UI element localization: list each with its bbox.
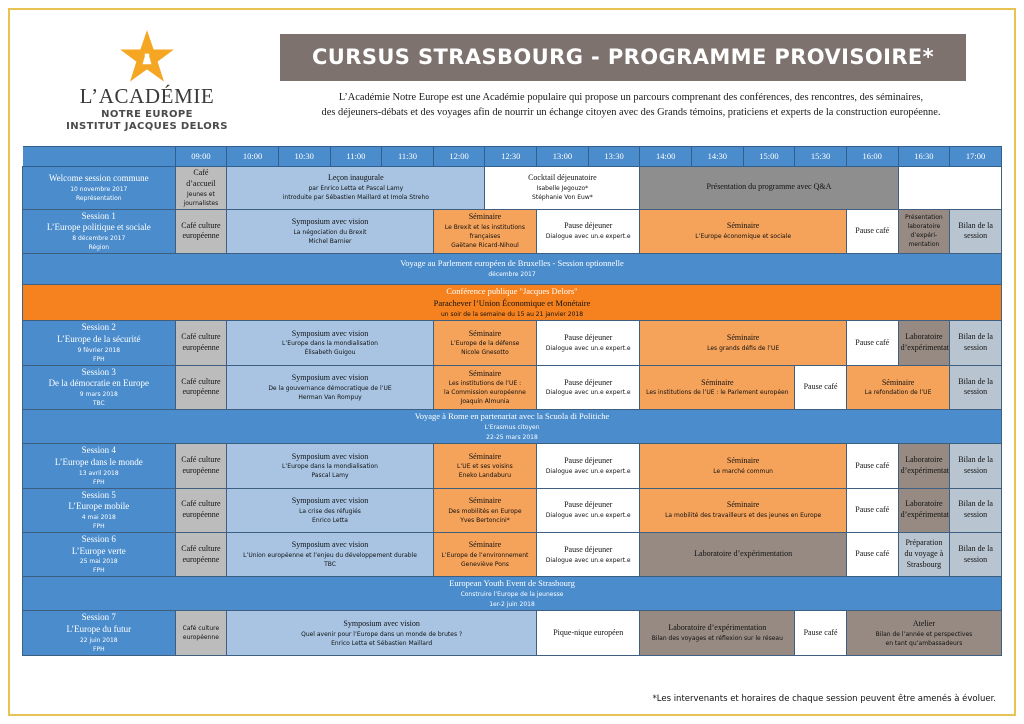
cell-line: 1er-2 juin 2018 bbox=[25, 600, 999, 610]
cell-line: Voyage au Parlement européen de Bruxelle… bbox=[25, 258, 999, 270]
time-header-1500: 15:00 bbox=[743, 147, 795, 167]
session-header-cell[interactable]: Session 6L’Europe verte25 mai 2018FPH bbox=[23, 532, 176, 576]
cell-line: Des mobilités en Europe bbox=[436, 507, 534, 516]
page-content: L’ACADÉMIE NOTRE EUROPE INSTITUT JACQUES… bbox=[22, 22, 1002, 702]
schedule-cell[interactable]: Symposium avec visionDe la gouvernance d… bbox=[227, 365, 434, 409]
session-header-l4: TBC bbox=[25, 399, 173, 408]
cell-line: Séminaire bbox=[436, 540, 534, 551]
cell-line: Symposium avec vision bbox=[229, 540, 431, 551]
footnote: *Les intervenants et horaires de chaque … bbox=[22, 694, 1002, 704]
cell-line: Symposium avec vision bbox=[229, 619, 534, 630]
session-header-cell[interactable]: Welcome session commune10 novembre 2017R… bbox=[23, 167, 176, 210]
cell-line: Le marché commun bbox=[642, 467, 844, 476]
session-header-l1: Session 1 bbox=[25, 211, 173, 223]
session-row: Session 6L’Europe verte25 mai 2018FPHCaf… bbox=[23, 532, 1002, 576]
cell-line: L’Europe dans la mondialisation bbox=[229, 339, 431, 348]
cell-line: Séminaire bbox=[642, 333, 844, 344]
time-header-1330: 13:30 bbox=[588, 147, 640, 167]
cell-line: décembre 2017 bbox=[25, 270, 999, 280]
cell-line: Pause déjeuner bbox=[539, 221, 637, 232]
session-header-cell[interactable]: Session 7L’Europe du futur22 juin 2018FP… bbox=[23, 611, 176, 655]
session-header-cell[interactable]: Session 5L’Europe mobile4 mai 2018FPH bbox=[23, 488, 176, 532]
cell-line: Gaëtane Ricard-Nihoul bbox=[436, 241, 534, 250]
schedule-cell[interactable]: SéminaireLe marché commun bbox=[640, 444, 847, 488]
cell-line: Laboratoire d’expérimentation bbox=[642, 623, 792, 634]
session-header-l4: FPH bbox=[25, 645, 173, 654]
session-header-l3: 4 mai 2018 bbox=[25, 513, 173, 522]
session-header-l4: FPH bbox=[25, 522, 173, 531]
cell-line: Café culture bbox=[178, 221, 225, 232]
schedule-cell[interactable]: Pause café bbox=[846, 488, 898, 532]
schedule-cell[interactable]: Café cultureeuropéenne bbox=[175, 611, 227, 655]
session-header-l2: L’Europe mobile bbox=[25, 501, 173, 513]
schedule-cell[interactable]: Symposium avec visionLa crise des réfugi… bbox=[227, 488, 434, 532]
cell-line: d’expérimentation bbox=[901, 466, 948, 477]
cell-line: TBC bbox=[229, 560, 431, 569]
schedule-cell[interactable]: Laboratoired’expérimentation bbox=[898, 444, 950, 488]
session-row: Session 4L’Europe dans le monde13 avril … bbox=[23, 444, 1002, 488]
schedule-cell[interactable]: Cocktail déjeunatoireIsabelle Jegouzo*St… bbox=[485, 167, 640, 210]
schedule-cell[interactable]: Pause déjeunerDialogue avec un.e expert.… bbox=[537, 321, 640, 365]
time-header-0900: 09:00 bbox=[175, 147, 227, 167]
schedule-cell[interactable]: Préparation du voyage àStrasbourg bbox=[898, 532, 950, 576]
session-header-l2: L’Europe verte bbox=[25, 546, 173, 558]
time-header-1430: 14:30 bbox=[692, 147, 744, 167]
brand-name: L’ACADÉMIE bbox=[22, 85, 272, 107]
cell-line: Séminaire bbox=[436, 496, 534, 507]
schedule-cell[interactable]: Présentation du programme avec Q&A bbox=[640, 167, 898, 210]
brand-subtitle-1: NOTRE EUROPE bbox=[22, 109, 272, 120]
cell-line: Dialogue avec un.e expert.e bbox=[539, 467, 637, 476]
cell-line: Bilan des voyages et réflexion sur le ré… bbox=[642, 634, 792, 643]
cell-line: Cocktail déjeunatoire bbox=[487, 173, 637, 184]
cell-line: Enrico Letta bbox=[229, 516, 431, 525]
cell-line: session bbox=[952, 343, 999, 354]
cell-line: Laboratoire bbox=[901, 455, 948, 466]
cell-line: d’expérimentation bbox=[901, 510, 948, 521]
cell-line: un soir de la semaine du 15 au 21 janvie… bbox=[25, 310, 999, 320]
cell-line: L’UE et ses voisins bbox=[436, 462, 534, 471]
cell-line: Joaquín Almunia bbox=[436, 397, 534, 406]
schedule-cell[interactable]: Symposium avec visionQuel avenir pour l’… bbox=[227, 611, 537, 655]
cell-line: Pause café bbox=[849, 461, 896, 472]
time-header-1630: 16:30 bbox=[898, 147, 950, 167]
brand-subtitle-2: INSTITUT JACQUES DELORS bbox=[22, 121, 272, 132]
schedule-cell[interactable]: Pause déjeunerDialogue avec un.e expert.… bbox=[537, 209, 640, 253]
cell-line: introduite par Sébastien Maillard et Imo… bbox=[229, 193, 482, 202]
cell-line: De la gouvernance démocratique de l’UE bbox=[229, 384, 431, 393]
schedule-cell[interactable]: Café cultureeuropéenne bbox=[175, 365, 227, 409]
cell-line: Isabelle Jegouzo* bbox=[487, 184, 637, 193]
cell-line: européenne bbox=[178, 555, 225, 566]
cell-line: L’Europe de la défense bbox=[436, 339, 534, 348]
logo-block: L’ACADÉMIE NOTRE EUROPE INSTITUT JACQUES… bbox=[22, 26, 272, 132]
table-corner-cell bbox=[23, 147, 176, 167]
cell-line: Bilan de la bbox=[952, 221, 999, 232]
cell-line: European Youth Event de Strasbourg bbox=[25, 578, 999, 590]
schedule-cell[interactable]: SéminaireLes institutions de l’UE :la Co… bbox=[433, 365, 536, 409]
time-header-1400: 14:00 bbox=[640, 147, 692, 167]
cell-line: laboratoire bbox=[901, 222, 948, 231]
time-header-1100: 11:00 bbox=[330, 147, 382, 167]
cell-line: Pause café bbox=[797, 382, 844, 393]
cell-line: Séminaire bbox=[849, 378, 947, 389]
session-header-l1: Session 7 bbox=[25, 612, 173, 624]
schedule-cell[interactable]: SéminaireLa refondation de l’UE bbox=[846, 365, 949, 409]
session-header-l1: Session 2 bbox=[25, 322, 173, 334]
schedule-cell[interactable]: Pause déjeunerDialogue avec un.e expert.… bbox=[537, 444, 640, 488]
cell-line: Café culture bbox=[178, 455, 225, 466]
cell-line: Préparation du voyage à bbox=[901, 538, 948, 560]
schedule-cell[interactable]: Pause café bbox=[846, 444, 898, 488]
cell-line: Les institutions de l’UE : bbox=[436, 379, 534, 388]
cell-line: session bbox=[952, 510, 999, 521]
cell-line: européenne bbox=[178, 343, 225, 354]
session-header-l3: 8 décembre 2017 bbox=[25, 234, 173, 243]
time-header-1000: 10:00 bbox=[227, 147, 279, 167]
schedule-cell[interactable]: Symposium avec visionLa négociation du B… bbox=[227, 209, 434, 253]
cell-line: d’expérimentation bbox=[901, 343, 948, 354]
schedule-cell[interactable]: AtelierBilan de l’année et perspectivese… bbox=[846, 611, 1001, 655]
page-title: CURSUS STRASBOURG - PROGRAMME PROVISOIRE… bbox=[280, 34, 966, 81]
session-header-l4: FPH bbox=[25, 566, 173, 575]
cell-line: L’Europe économique et sociale bbox=[642, 232, 844, 241]
voyage-band-cell[interactable]: Voyage au Parlement européen de Bruxelle… bbox=[23, 254, 1002, 285]
schedule-cell[interactable]: SéminaireLa mobilité des travailleurs et… bbox=[640, 488, 847, 532]
conference-band-cell[interactable]: Conférence publique "Jacques Delors"Para… bbox=[23, 285, 1002, 321]
voyage-band-cell[interactable]: Voyage à Rome en partenariat avec la Scu… bbox=[23, 410, 1002, 444]
cell-line: Pause café bbox=[797, 628, 844, 639]
cell-line: Séminaire bbox=[642, 500, 844, 511]
schedule-cell[interactable]: Pique-nique européen bbox=[537, 611, 640, 655]
time-header-1030: 10:30 bbox=[278, 147, 330, 167]
cell-line: L’Erasmus citoyen bbox=[25, 423, 999, 433]
schedule-cell[interactable]: Laboratoire d’expérimentationBilan des v… bbox=[640, 611, 795, 655]
cell-line: Quel avenir pour l’Europe dans un monde … bbox=[229, 630, 534, 639]
cell-line: L’Europe de l’environnement bbox=[436, 551, 534, 560]
session-header-l4: FPH bbox=[25, 355, 173, 364]
cell-line: Présentation bbox=[901, 213, 948, 222]
cell-line: Le Brexit et les institutions bbox=[436, 223, 534, 232]
cell-line: session bbox=[952, 466, 999, 477]
document-header: L’ACADÉMIE NOTRE EUROPE INSTITUT JACQUES… bbox=[22, 22, 1002, 138]
cell-line: Pascal Lamy bbox=[229, 471, 431, 480]
time-header-1130: 11:30 bbox=[382, 147, 434, 167]
cell-line: La négociation du Brexit bbox=[229, 228, 431, 237]
cell-line: Yves Bertoncini* bbox=[436, 516, 534, 525]
session-row: Session 5L’Europe mobile4 mai 2018FPHCaf… bbox=[23, 488, 1002, 532]
cell-line: Café bbox=[178, 168, 225, 179]
cell-line: Pause déjeuner bbox=[539, 333, 637, 344]
cell-line: Café culture bbox=[178, 499, 225, 510]
cell-line: Bilan de l’année et perspectives bbox=[849, 630, 999, 639]
cell-line: Les grands défis de l’UE bbox=[642, 344, 844, 353]
cell-line: Jeunes et bbox=[178, 190, 225, 199]
cell-line: en tant qu’ambassadeurs bbox=[849, 639, 999, 648]
cell-line: Conférence publique "Jacques Delors" bbox=[25, 286, 999, 298]
voyage-band-row: European Youth Event de StrasbourgConstr… bbox=[23, 577, 1002, 611]
session-header-l2: L’Europe du futur bbox=[25, 624, 173, 636]
cell-line: Dialogue avec un.e expert.e bbox=[539, 232, 637, 241]
time-header-1700: 17:00 bbox=[950, 147, 1002, 167]
cell-line: Voyage à Rome en partenariat avec la Scu… bbox=[25, 411, 999, 423]
cell-line: mentation bbox=[901, 240, 948, 249]
cell-line: Pause déjeuner bbox=[539, 378, 637, 389]
schedule-cell[interactable]: SéminaireLe Brexit et les institutionsfr… bbox=[433, 209, 536, 253]
cell-line: Séminaire bbox=[642, 221, 844, 232]
time-header-1230: 12:30 bbox=[485, 147, 537, 167]
session-header-l3: 10 novembre 2017 bbox=[25, 185, 173, 194]
intro-line-2: des déjeuners-débats et des voyages afin… bbox=[280, 105, 982, 120]
schedule-cell[interactable]: Pause café bbox=[846, 209, 898, 253]
session-header-l3: 9 mars 2018 bbox=[25, 390, 173, 399]
schedule-cell[interactable]: Bilan de lasession bbox=[950, 365, 1002, 409]
cell-line: Symposium avec vision bbox=[229, 329, 431, 340]
session-row: Welcome session commune10 novembre 2017R… bbox=[23, 167, 1002, 210]
cell-line: Enrico Letta et Sébastien Maillard bbox=[229, 639, 534, 648]
cell-line: Café culture bbox=[178, 544, 225, 555]
session-header-cell[interactable]: Session 3De la démocratie en Europe9 mar… bbox=[23, 365, 176, 409]
cell-line: la Commission européenne bbox=[436, 388, 534, 397]
cell-line: Michel Barnier bbox=[229, 237, 431, 246]
cell-line: Pause déjeuner bbox=[539, 456, 637, 467]
session-header-l1: Session 5 bbox=[25, 490, 173, 502]
cell-line: Les institutions de l’UE : le Parlement … bbox=[642, 388, 792, 397]
schedule-cell[interactable]: Bilan de lasession bbox=[950, 532, 1002, 576]
cell-line: Strasbourg bbox=[901, 560, 948, 571]
schedule-cell[interactable]: SéminaireL’Europe de l’environnementGene… bbox=[433, 532, 536, 576]
session-header-l2: L’Europe politique et sociale bbox=[25, 222, 173, 234]
cell-line: Séminaire bbox=[436, 369, 534, 380]
cell-line: Bilan de la bbox=[952, 332, 999, 343]
schedule-cell[interactable]: SéminaireL’UE et ses voisinsEneko Landab… bbox=[433, 444, 536, 488]
session-header-l2: L’Europe dans le monde bbox=[25, 457, 173, 469]
cell-line: Atelier bbox=[849, 619, 999, 630]
session-header-l3: 22 juin 2018 bbox=[25, 636, 173, 645]
cell-line: Symposium avec vision bbox=[229, 373, 431, 384]
cell-line: européenne bbox=[178, 633, 225, 642]
cell-line: d’expéri- bbox=[901, 231, 948, 240]
cell-line: européenne bbox=[178, 466, 225, 477]
schedule-cell[interactable]: Pause café bbox=[846, 321, 898, 365]
cell-line: Bilan de la bbox=[952, 499, 999, 510]
schedule-cell[interactable]: Symposium avec visionL’Europe dans la mo… bbox=[227, 444, 434, 488]
cell-line: La refondation de l’UE bbox=[849, 388, 947, 397]
cell-line: Bilan de la bbox=[952, 377, 999, 388]
time-header-1600: 16:00 bbox=[846, 147, 898, 167]
cell-line: Dialogue avec un.e expert.e bbox=[539, 388, 637, 397]
header-text-block: CURSUS STRASBOURG - PROGRAMME PROVISOIRE… bbox=[272, 26, 1002, 120]
cell-line: Séminaire bbox=[436, 452, 534, 463]
cell-line: 22-25 mars 2018 bbox=[25, 433, 999, 443]
session-header-l1: Session 6 bbox=[25, 534, 173, 546]
cell-line: L’Europe dans la mondialisation bbox=[229, 462, 431, 471]
time-header-row: 09:0010:0010:3011:0011:3012:0012:3013:00… bbox=[23, 147, 1002, 167]
time-header-1530: 15:30 bbox=[795, 147, 847, 167]
schedule-cell[interactable]: Pause café bbox=[846, 532, 898, 576]
cell-line: Eneko Landaburu bbox=[436, 471, 534, 480]
cell-line: Pause café bbox=[849, 505, 896, 516]
cell-line: Herman Van Rompuy bbox=[229, 393, 431, 402]
voyage-band-row: Voyage à Rome en partenariat avec la Scu… bbox=[23, 410, 1002, 444]
schedule-cell[interactable]: Pause café bbox=[795, 611, 847, 655]
cell-line: Dialogue avec un.e expert.e bbox=[539, 511, 637, 520]
cell-line: Séminaire bbox=[436, 329, 534, 340]
time-header-1300: 13:00 bbox=[537, 147, 589, 167]
cell-line: Laboratoire bbox=[901, 332, 948, 343]
intro-paragraph: L’Académie Notre Europe est une Académie… bbox=[280, 90, 982, 120]
cell-line: Dialogue avec un.e expert.e bbox=[539, 344, 637, 353]
cell-line: Bilan de la bbox=[952, 455, 999, 466]
cell-line: Leçon inaugurale bbox=[229, 173, 482, 184]
time-header-1200: 12:00 bbox=[433, 147, 485, 167]
cell-line: Bilan de la bbox=[952, 544, 999, 555]
session-header-l2: L’Europe de la sécurité bbox=[25, 334, 173, 346]
schedule-cell[interactable]: Café cultureeuropéenne bbox=[175, 321, 227, 365]
cell-line: Café culture bbox=[178, 624, 225, 633]
document-page: L’ACADÉMIE NOTRE EUROPE INSTITUT JACQUES… bbox=[0, 0, 1024, 724]
schedule-cell[interactable]: SéminaireL’Europe de la défenseNicole Gn… bbox=[433, 321, 536, 365]
cell-line: européenne bbox=[178, 231, 225, 242]
cell-line: Élisabeth Guigou bbox=[229, 348, 431, 357]
schedule-cell[interactable]: Bilan de lasession bbox=[950, 444, 1002, 488]
schedule-cell[interactable]: Présentationlaboratoired’expéri-mentatio… bbox=[898, 209, 950, 253]
conference-band-row: Conférence publique "Jacques Delors"Para… bbox=[23, 285, 1002, 321]
cell-line: Symposium avec vision bbox=[229, 452, 431, 463]
cell-line: Parachever l’Union Économique et Monétai… bbox=[25, 298, 999, 310]
session-header-l4: Représentation bbox=[25, 194, 173, 203]
cell-line: session bbox=[952, 555, 999, 566]
cell-line: L’Union européenne et l’enjeu du dévelop… bbox=[229, 551, 431, 560]
session-header-l1: Welcome session commune bbox=[25, 173, 173, 185]
session-header-cell[interactable]: Session 1L’Europe politique et sociale8 … bbox=[23, 209, 176, 253]
schedule-cell[interactable]: SéminaireL’Europe économique et sociale bbox=[640, 209, 847, 253]
programme-schedule-table: 09:0010:0010:3011:0011:3012:0012:3013:00… bbox=[22, 146, 1002, 656]
cell-line: journalistes bbox=[178, 199, 225, 208]
cell-line: Pause déjeuner bbox=[539, 500, 637, 511]
schedule-cell[interactable]: Symposium avec visionL’Union européenne … bbox=[227, 532, 434, 576]
cell-line: Pause déjeuner bbox=[539, 545, 637, 556]
cell-line: session bbox=[952, 387, 999, 398]
cell-line: Construire l’Europe de la jeunesse bbox=[25, 590, 999, 600]
cell-line: Symposium avec vision bbox=[229, 217, 431, 228]
cell-line: session bbox=[952, 231, 999, 242]
session-row: Session 7L’Europe du futur22 juin 2018FP… bbox=[23, 611, 1002, 655]
schedule-cell[interactable]: Pause café bbox=[795, 365, 847, 409]
cell-line: françaises bbox=[436, 232, 534, 241]
schedule-cell[interactable]: SéminaireDes mobilités en EuropeYves Ber… bbox=[433, 488, 536, 532]
schedule-cell[interactable]: Symposium avec visionL’Europe dans la mo… bbox=[227, 321, 434, 365]
cell-line: par Enrico Letta et Pascal Lamy bbox=[229, 184, 482, 193]
cell-line: Geneviève Pons bbox=[436, 560, 534, 569]
cell-line: La mobilité des travailleurs et des jeun… bbox=[642, 511, 844, 520]
cell-line: Séminaire bbox=[642, 378, 792, 389]
session-header-l4: Région bbox=[25, 243, 173, 252]
cell-line: Présentation du programme avec Q&A bbox=[642, 182, 895, 193]
schedule-cell[interactable]: Bilan de lasession bbox=[950, 488, 1002, 532]
session-row: Session 1L’Europe politique et sociale8 … bbox=[23, 209, 1002, 253]
voyage-band-row: Voyage au Parlement européen de Bruxelle… bbox=[23, 254, 1002, 285]
schedule-cell[interactable]: Bilan de lasession bbox=[950, 321, 1002, 365]
schedule-cell[interactable] bbox=[898, 167, 1001, 210]
cell-line: Séminaire bbox=[642, 456, 844, 467]
cell-line: Pause café bbox=[849, 226, 896, 237]
schedule-cell[interactable]: Laboratoire d’expérimentation bbox=[640, 532, 847, 576]
schedule-cell[interactable]: Caféd’accueilJeunes etjournalistes bbox=[175, 167, 227, 210]
cell-line: Dialogue avec un.e expert.e bbox=[539, 556, 637, 565]
cell-line: Laboratoire bbox=[901, 499, 948, 510]
session-header-l1: Session 3 bbox=[25, 367, 173, 379]
star-icon bbox=[119, 30, 175, 84]
cell-line: d’accueil bbox=[178, 179, 225, 190]
cell-line: Pause café bbox=[849, 549, 896, 560]
cell-line: Séminaire bbox=[436, 212, 534, 223]
cell-line: Pause café bbox=[849, 338, 896, 349]
schedule-cell[interactable]: Bilan de lasession bbox=[950, 209, 1002, 253]
intro-line-1: L’Académie Notre Europe est une Académie… bbox=[280, 90, 982, 105]
session-header-l1: Session 4 bbox=[25, 445, 173, 457]
session-header-l2: De la démocratie en Europe bbox=[25, 378, 173, 390]
session-header-l3: 25 mai 2018 bbox=[25, 557, 173, 566]
cell-line: Symposium avec vision bbox=[229, 496, 431, 507]
cell-line: Café culture bbox=[178, 332, 225, 343]
session-header-l4: FPH bbox=[25, 478, 173, 487]
session-row: Session 2L’Europe de la sécurité9 févrie… bbox=[23, 321, 1002, 365]
schedule-cell[interactable]: Leçon inauguralepar Enrico Letta et Pasc… bbox=[227, 167, 485, 210]
cell-line: européenne bbox=[178, 387, 225, 398]
schedule-cell[interactable]: Pause déjeunerDialogue avec un.e expert.… bbox=[537, 488, 640, 532]
session-header-l3: 13 avril 2018 bbox=[25, 469, 173, 478]
schedule-cell[interactable]: SéminaireLes institutions de l’UE : le P… bbox=[640, 365, 795, 409]
session-row: Session 3De la démocratie en Europe9 mar… bbox=[23, 365, 1002, 409]
schedule-cell[interactable]: Laboratoired’expérimentation bbox=[898, 321, 950, 365]
cell-line: Nicole Gnesotto bbox=[436, 348, 534, 357]
cell-line: Pique-nique européen bbox=[539, 628, 637, 639]
schedule-cell[interactable]: SéminaireLes grands défis de l’UE bbox=[640, 321, 847, 365]
session-header-cell[interactable]: Session 2L’Europe de la sécurité9 févrie… bbox=[23, 321, 176, 365]
cell-line: européenne bbox=[178, 510, 225, 521]
schedule-cell[interactable]: Café cultureeuropéenne bbox=[175, 209, 227, 253]
cell-line: Café culture bbox=[178, 377, 225, 388]
schedule-cell[interactable]: Pause déjeunerDialogue avec un.e expert.… bbox=[537, 365, 640, 409]
schedule-cell[interactable]: Laboratoired’expérimentation bbox=[898, 488, 950, 532]
schedule-cell[interactable]: Café cultureeuropéenne bbox=[175, 488, 227, 532]
voyage-band-cell[interactable]: European Youth Event de StrasbourgConstr… bbox=[23, 577, 1002, 611]
schedule-cell[interactable]: Pause déjeunerDialogue avec un.e expert.… bbox=[537, 532, 640, 576]
cell-line: Stéphanie Von Euw* bbox=[487, 193, 637, 202]
cell-line: Laboratoire d’expérimentation bbox=[642, 549, 844, 560]
cell-line: La crise des réfugiés bbox=[229, 507, 431, 516]
schedule-cell[interactable]: Café cultureeuropéenne bbox=[175, 444, 227, 488]
session-header-cell[interactable]: Session 4L’Europe dans le monde13 avril … bbox=[23, 444, 176, 488]
session-header-l3: 9 février 2018 bbox=[25, 346, 173, 355]
schedule-cell[interactable]: Café cultureeuropéenne bbox=[175, 532, 227, 576]
